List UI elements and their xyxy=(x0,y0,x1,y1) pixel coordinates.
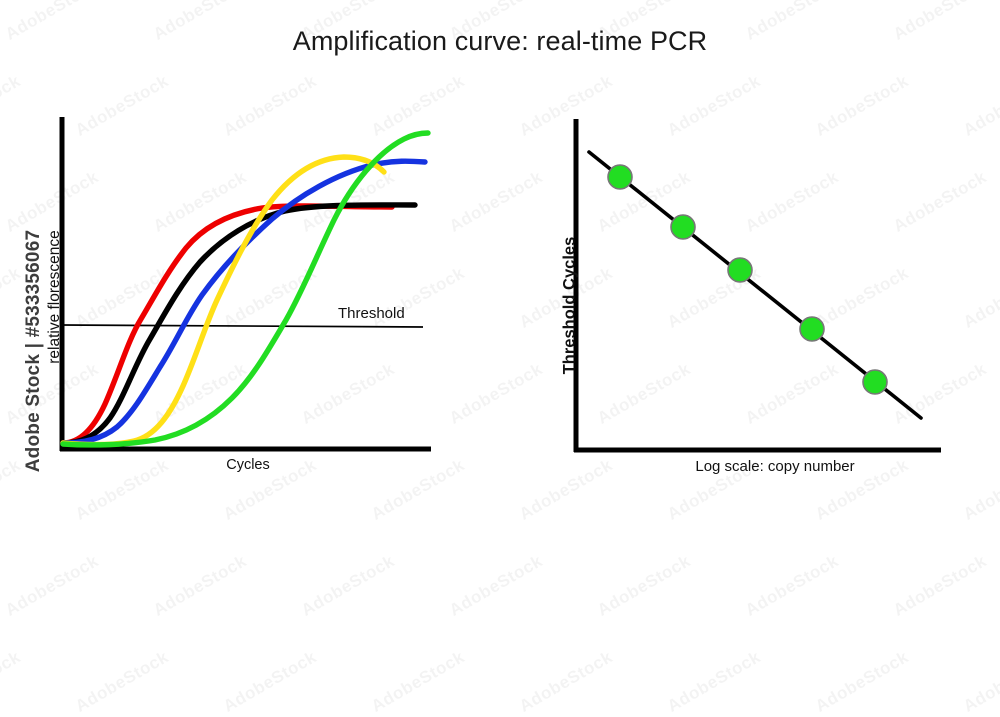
watermark-text: AdobeStock xyxy=(2,551,102,620)
watermark-text: AdobeStock xyxy=(220,647,320,716)
standard-curve-point xyxy=(863,370,887,394)
standard-curve-point xyxy=(671,215,695,239)
standard-curve-point xyxy=(608,165,632,189)
watermark-text: AdobeStock xyxy=(812,647,912,716)
watermark-text: AdobeStock xyxy=(150,551,250,620)
watermark-text: AdobeStock xyxy=(960,647,1000,716)
figure-canvas: AdobeStockAdobeStockAdobeStockAdobeStock… xyxy=(0,0,1000,540)
standard-curve-point xyxy=(800,317,824,341)
right-x-axis-label: Log scale: copy number xyxy=(675,458,875,475)
watermark-text: AdobeStock xyxy=(664,647,764,716)
watermark-text: AdobeStock xyxy=(890,551,990,620)
watermark-text: AdobeStock xyxy=(516,647,616,716)
watermark-text: AdobeStock xyxy=(298,551,398,620)
watermark-text: AdobeStock xyxy=(0,647,24,716)
right-y-axis-label: Threshold Cycles xyxy=(561,206,580,406)
watermark-text: AdobeStock xyxy=(368,647,468,716)
watermark-text: AdobeStock xyxy=(594,551,694,620)
watermark-text: AdobeStock xyxy=(742,551,842,620)
watermark-text: AdobeStock xyxy=(72,647,172,716)
standard-curve-point xyxy=(728,258,752,282)
watermark-text: AdobeStock xyxy=(446,551,546,620)
